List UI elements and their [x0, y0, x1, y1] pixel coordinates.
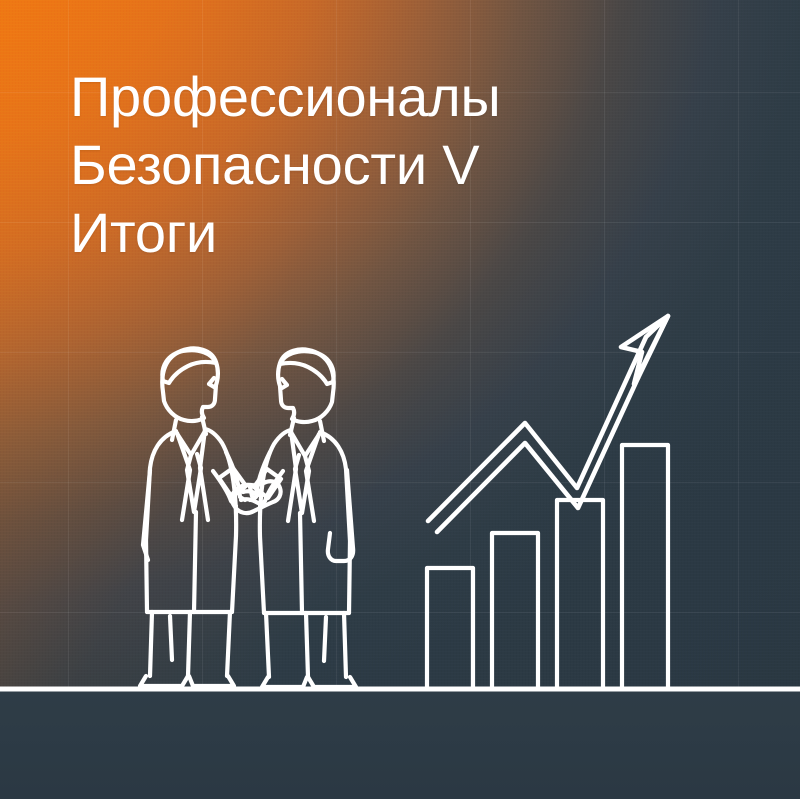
trousers-right-icon	[266, 613, 346, 677]
jacket-opening-right-icon	[300, 513, 302, 613]
poster-canvas: Профессионалы Безопасности V Итоги	[0, 0, 800, 799]
title-line-1: Профессионалы	[70, 63, 690, 131]
leg-seam-right-icon	[324, 617, 326, 661]
handshake-icon	[219, 468, 281, 513]
chart-bar-1	[427, 568, 473, 688]
hair-right-icon	[280, 351, 334, 384]
shoe-back-right-icon	[262, 677, 307, 687]
bar-chart-illustration	[427, 445, 668, 688]
chart-bar-4	[622, 445, 668, 688]
hair-left-icon	[162, 350, 216, 383]
leg-seam-left-icon	[170, 616, 172, 660]
trend-arrow-inner-stroke	[437, 378, 638, 532]
title-line-3: Итоги	[70, 199, 690, 267]
trend-arrow-icon	[428, 316, 668, 532]
chart-bar-2	[492, 533, 538, 688]
shoe-front-left-icon	[140, 676, 188, 686]
businessman-right-figure	[250, 349, 356, 687]
title-line-2: Безопасности V	[70, 131, 690, 199]
face-profile-right-icon	[282, 379, 287, 388]
shoe-front-right-icon	[308, 677, 356, 687]
businessman-left-figure	[140, 348, 245, 686]
page-title: Профессионалы Безопасности V Итоги	[70, 63, 690, 267]
trousers-left-icon	[150, 612, 230, 676]
shoe-back-left-icon	[189, 676, 234, 686]
chart-bar-3	[557, 500, 603, 688]
face-profile-left-icon	[209, 378, 214, 387]
jacket-opening-left-icon	[194, 512, 196, 612]
